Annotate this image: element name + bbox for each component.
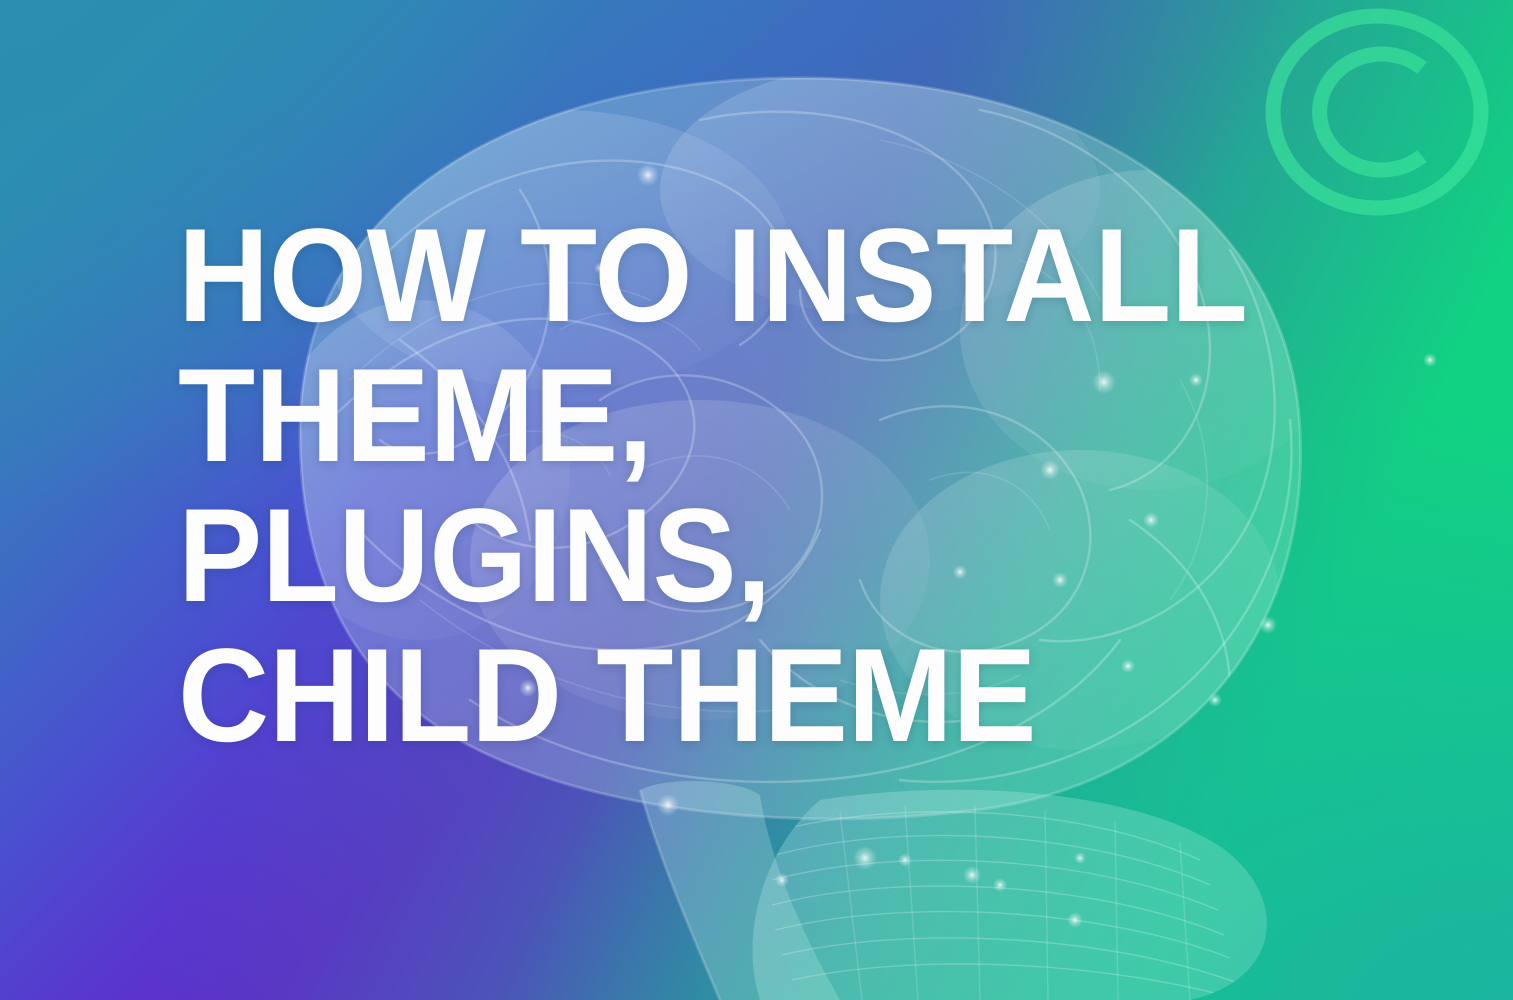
headline-line-3: PLUGINS, <box>178 486 1347 626</box>
promo-banner: HOW TO INSTALL THEME, PLUGINS, CHILD THE… <box>0 0 1513 1000</box>
headline-line-2: THEME, <box>178 346 1347 486</box>
page-title: HOW TO INSTALL THEME, PLUGINS, CHILD THE… <box>178 206 1408 766</box>
headline-line-1: HOW TO INSTALL <box>178 206 1347 346</box>
headline-line-4: CHILD THEME <box>178 626 1347 766</box>
